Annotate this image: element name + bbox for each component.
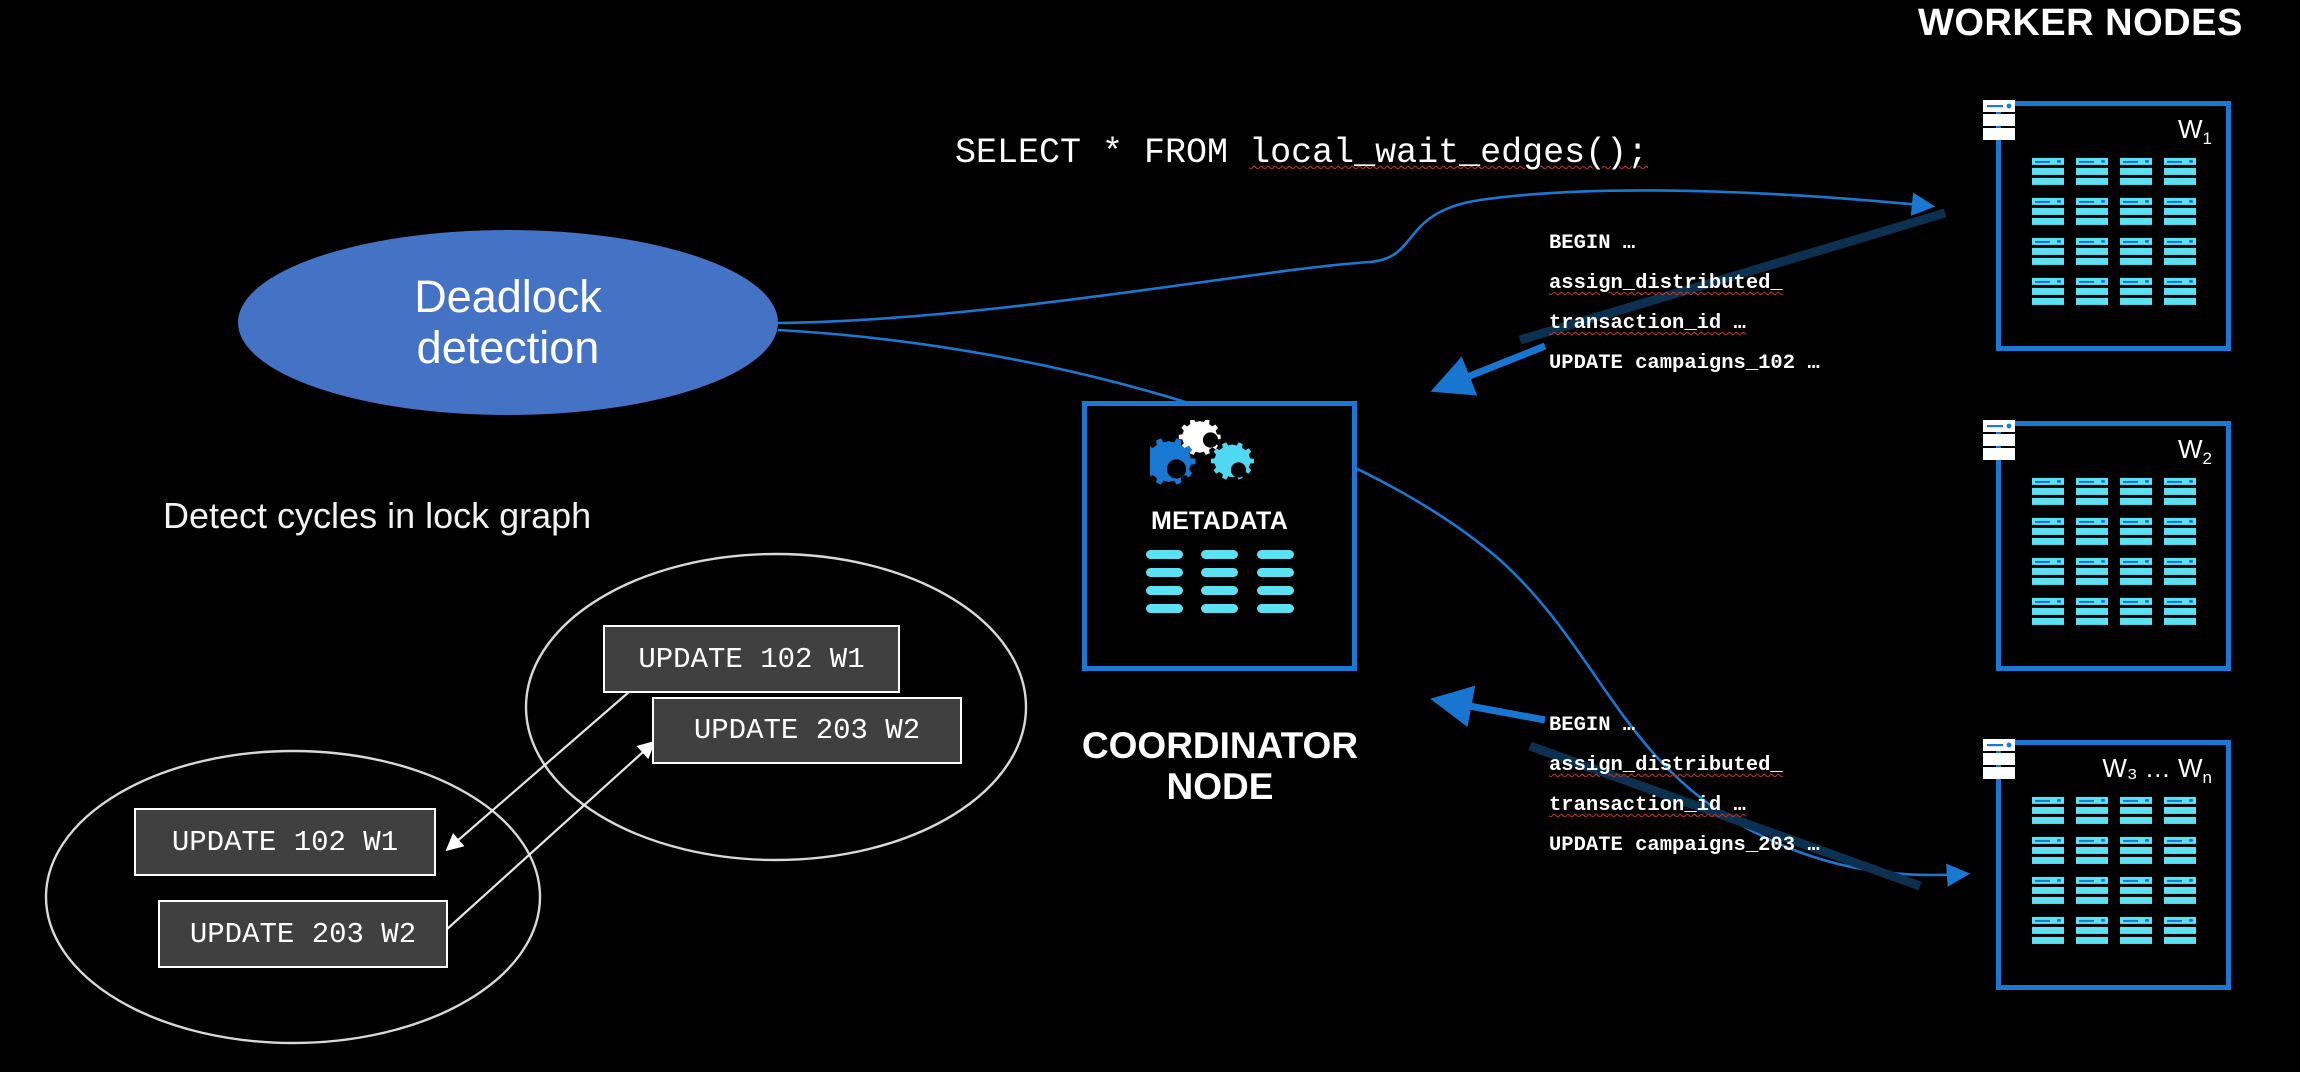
lock-node-bottom-102[interactable]: UPDATE 102 W1 (134, 808, 436, 876)
server-icon (2164, 238, 2196, 266)
worker-node-2-label: W2 (2178, 434, 2212, 469)
coordinator-node-title: COORDINATOR NODE (1060, 725, 1380, 808)
metadata-bar (1201, 550, 1238, 559)
server-icon (2076, 518, 2108, 546)
txn2-line-3: transaction_id … (1549, 786, 1820, 826)
server-icon (2164, 917, 2196, 945)
arrow-txn1-to-coordinator (1437, 346, 1545, 389)
sql-query-text: SELECT * FROM local_wait_edges(); (955, 133, 1648, 173)
lock-cycle-circle-bottom (46, 751, 540, 1043)
worker-nodes-title: WORKER NODES (1918, 2, 2243, 45)
server-icon (2120, 558, 2152, 586)
lock-node-top-203[interactable]: UPDATE 203 W2 (652, 697, 962, 764)
server-icon (2032, 877, 2064, 905)
server-rack-icon (1979, 95, 2031, 147)
metadata-bar (1257, 568, 1294, 577)
server-icon (2076, 837, 2108, 865)
metadata-bar (1201, 568, 1238, 577)
metadata-bar (1201, 586, 1238, 595)
txn1-line-3: transaction_id … (1549, 304, 1820, 344)
metadata-bar-column (1257, 550, 1294, 613)
server-icon (2120, 598, 2152, 626)
worker-node-3-label: W₃ … Wn (2102, 753, 2212, 788)
arrow-txn2-to-coordinator (1437, 700, 1545, 720)
server-icon (2120, 837, 2152, 865)
metadata-bar (1257, 586, 1294, 595)
metadata-bar (1146, 568, 1183, 577)
server-icon (2164, 158, 2196, 186)
server-icon (2120, 518, 2152, 546)
detect-cycles-caption: Detect cycles in lock graph (163, 495, 591, 537)
server-icon (2076, 917, 2108, 945)
deadlock-line-1: Deadlock (414, 271, 602, 322)
server-icon (2120, 877, 2152, 905)
coordinator-line-2: NODE (1060, 766, 1380, 807)
metadata-bar (1257, 604, 1294, 613)
sql-prefix: SELECT * FROM (955, 133, 1249, 173)
txn1-line-2: assign_distributed_ (1549, 264, 1820, 304)
server-icon (2120, 478, 2152, 506)
metadata-bar-column (1201, 550, 1238, 613)
server-icon (2032, 797, 2064, 825)
edge-top102-to-bottom102 (448, 672, 652, 849)
server-grid (2032, 797, 2196, 945)
metadata-bars-icon (1146, 550, 1294, 613)
server-icon (2076, 478, 2108, 506)
server-icon (2032, 558, 2064, 586)
server-icon (2076, 198, 2108, 226)
server-icon (2120, 198, 2152, 226)
server-icon (2164, 877, 2196, 905)
server-icon (2120, 797, 2152, 825)
server-icon (2076, 877, 2108, 905)
gears-icon (1150, 420, 1290, 502)
coordinator-node-box[interactable]: METADATA (1082, 401, 1357, 671)
server-icon (2120, 158, 2152, 186)
worker-node-2[interactable]: W2 (1996, 421, 2231, 671)
server-icon (2032, 598, 2064, 626)
server-rack-icon (1979, 734, 2031, 786)
server-icon (2032, 238, 2064, 266)
server-icon (2076, 158, 2108, 186)
server-icon (2164, 558, 2196, 586)
server-icon (2120, 917, 2152, 945)
server-icon (2164, 837, 2196, 865)
worker-node-1-label: W1 (2178, 114, 2212, 149)
txn2-line-4: UPDATE campaigns_203 … (1549, 826, 1820, 866)
server-icon (2120, 238, 2152, 266)
txn2-line-2: assign_distributed_ (1549, 746, 1820, 786)
metadata-bar-column (1146, 550, 1183, 613)
server-icon (2032, 158, 2064, 186)
txn1-line-4: UPDATE campaigns_102 … (1549, 344, 1820, 384)
server-icon (2076, 598, 2108, 626)
server-grid (2032, 478, 2196, 626)
metadata-bar (1201, 604, 1238, 613)
server-grid (2032, 158, 2196, 306)
metadata-label: METADATA (1087, 507, 1352, 536)
server-icon (2032, 917, 2064, 945)
server-icon (2032, 198, 2064, 226)
metadata-bar (1146, 604, 1183, 613)
deadlock-line-2: detection (417, 322, 600, 373)
server-icon (2120, 278, 2152, 306)
edge-bottom203-to-top203 (446, 743, 653, 930)
metadata-bar (1146, 550, 1183, 559)
server-icon (2164, 797, 2196, 825)
server-icon (2164, 198, 2196, 226)
worker-node-3[interactable]: W₃ … Wn (1996, 740, 2231, 990)
server-icon (2032, 278, 2064, 306)
deadlock-detection-label: Deadlock detection (414, 272, 602, 373)
transaction-snippet-102: BEGIN … assign_distributed_ transaction_… (1549, 224, 1820, 384)
txn1-line-1: BEGIN … (1549, 224, 1820, 264)
sql-function: local_wait_edges(); (1249, 133, 1648, 173)
server-icon (2076, 278, 2108, 306)
txn2-line-1: BEGIN … (1549, 706, 1820, 746)
metadata-bar (1146, 586, 1183, 595)
server-icon (2032, 518, 2064, 546)
server-icon (2076, 238, 2108, 266)
server-icon (2164, 278, 2196, 306)
server-icon (2164, 478, 2196, 506)
metadata-bar (1257, 550, 1294, 559)
server-rack-icon (1979, 415, 2031, 467)
server-icon (2164, 598, 2196, 626)
server-icon (2032, 837, 2064, 865)
transaction-snippet-203: BEGIN … assign_distributed_ transaction_… (1549, 706, 1820, 866)
server-icon (2076, 558, 2108, 586)
coordinator-line-1: COORDINATOR (1060, 725, 1380, 766)
server-icon (2164, 518, 2196, 546)
lock-node-bottom-203[interactable]: UPDATE 203 W2 (158, 900, 448, 968)
diagram-canvas: WORKER NODES Deadlock detection Detect c… (0, 0, 2300, 1072)
worker-node-1[interactable]: W1 (1996, 101, 2231, 351)
server-icon (2032, 478, 2064, 506)
lock-node-top-102[interactable]: UPDATE 102 W1 (603, 625, 900, 693)
server-icon (2076, 797, 2108, 825)
deadlock-detection-node[interactable]: Deadlock detection (238, 230, 778, 415)
